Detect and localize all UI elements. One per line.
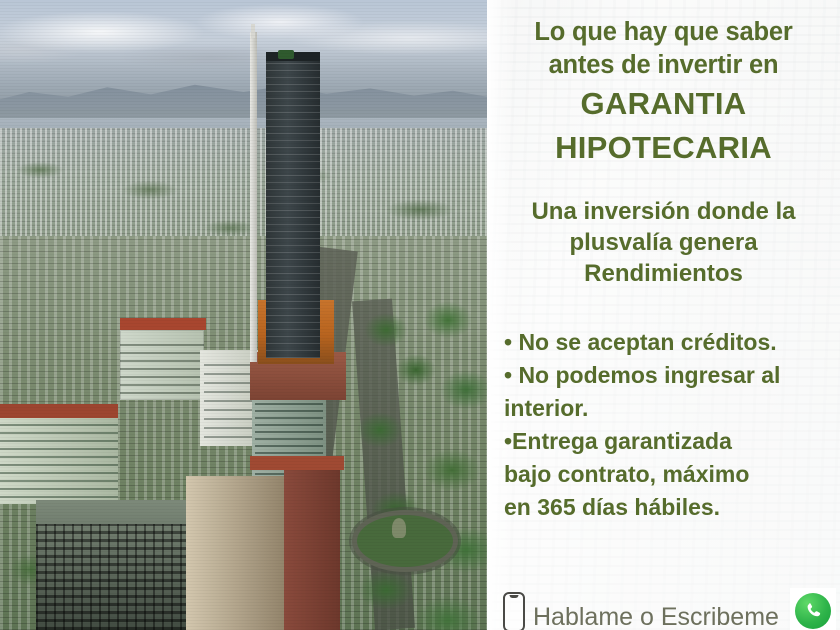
subheadline-block: Una inversión donde la plusvalía genera … bbox=[495, 196, 832, 289]
city-aerial-photo bbox=[0, 0, 487, 630]
bullet-item: •Entrega garantizada bbox=[504, 425, 834, 458]
poster-canvas: Lo que hay que saber antes de invertir e… bbox=[0, 0, 840, 630]
tower-antenna-tip bbox=[251, 24, 255, 38]
whatsapp-icon bbox=[795, 593, 831, 629]
subheadline-line-2: plusvalía genera bbox=[569, 229, 757, 256]
skyscraper-tower bbox=[266, 58, 320, 358]
smartphone-icon bbox=[503, 592, 525, 630]
subheadline-line-3: Rendimientos bbox=[584, 260, 743, 287]
fountain-monument bbox=[392, 518, 406, 538]
bullet-list: • No se aceptan créditos. • No podemos i… bbox=[504, 326, 834, 524]
headline-line-4: HIPOTECARIA bbox=[495, 126, 832, 170]
bullet-item: en 365 días hábiles. bbox=[504, 491, 834, 524]
clouds-layer bbox=[0, 4, 487, 82]
headline-line-1: Lo que hay que saber bbox=[534, 18, 792, 46]
headline-block: Lo que hay que saber antes de invertir e… bbox=[495, 16, 832, 170]
building-d bbox=[0, 418, 118, 504]
park-trees-right bbox=[356, 300, 487, 630]
bullet-item: • No se aceptan créditos. bbox=[504, 326, 834, 359]
tower-antenna-spire bbox=[250, 32, 257, 362]
roundabout-glorieta bbox=[352, 510, 458, 572]
red-roof-c bbox=[250, 456, 344, 470]
bullet-item: • No podemos ingresar al bbox=[504, 359, 834, 392]
contact-label: Hablame o Escribeme bbox=[533, 602, 779, 630]
whatsapp-button[interactable] bbox=[790, 588, 836, 630]
subheadline-line-1: Una inversión donde la bbox=[531, 198, 795, 225]
building-a bbox=[120, 330, 204, 400]
bullet-item: interior. bbox=[504, 392, 834, 425]
headline-line-3: GARANTIA bbox=[495, 82, 832, 126]
red-roof-a bbox=[120, 318, 206, 330]
building-f bbox=[186, 476, 292, 630]
building-e bbox=[36, 500, 186, 630]
building-g bbox=[284, 470, 340, 630]
contact-bar: Hablame o Escribeme bbox=[487, 588, 840, 630]
text-panel: Lo que hay que saber antes de invertir e… bbox=[487, 0, 840, 630]
bullet-item: bajo contrato, máximo bbox=[504, 458, 834, 491]
panel-content: Lo que hay que saber antes de invertir e… bbox=[487, 0, 840, 630]
red-roof-b bbox=[0, 404, 118, 418]
tower-roof-garden bbox=[278, 50, 294, 59]
headline-line-2: antes de invertir en bbox=[549, 51, 779, 79]
